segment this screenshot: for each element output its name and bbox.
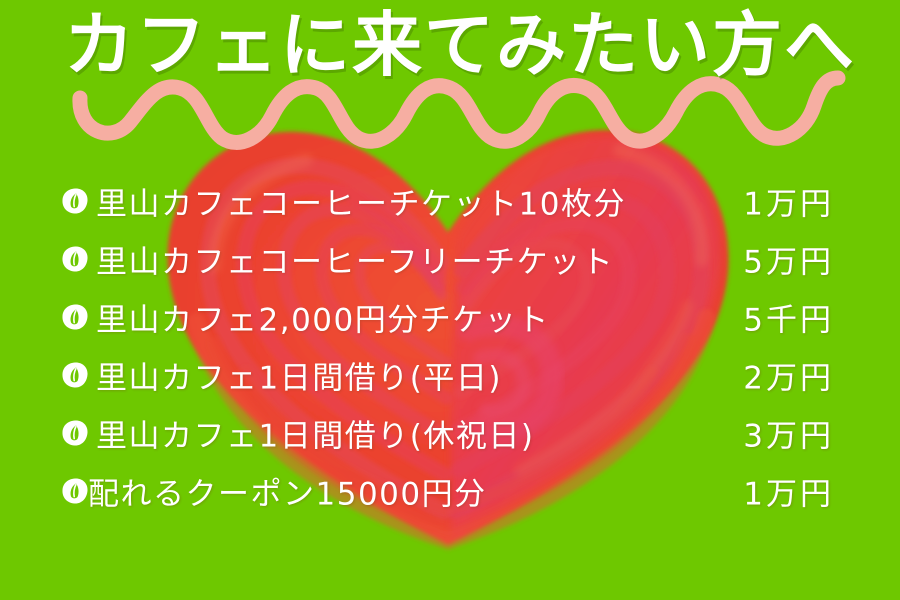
list-item-label: 里山カフェコーヒーチケット10枚分 bbox=[96, 179, 626, 224]
price-list: 里山カフェコーヒーチケット10枚分 1万円 里山カフェコーヒーフリーチケット 5… bbox=[0, 172, 900, 520]
coffee-bean-circle-icon bbox=[60, 302, 90, 332]
list-item-price: 2万円 bbox=[743, 353, 834, 398]
list-item-label: 配れるクーポン15000円分 bbox=[88, 469, 487, 514]
list-item: 配れるクーポン15000円分 1万円 bbox=[0, 462, 900, 520]
list-item-price: 5千円 bbox=[743, 295, 834, 340]
list-item-label: 里山カフェ1日間借り(平日) bbox=[96, 353, 502, 398]
list-item-price: 1万円 bbox=[743, 179, 834, 224]
list-item-label: 里山カフェコーヒーフリーチケット bbox=[96, 237, 614, 282]
list-item: 里山カフェコーヒーフリーチケット 5万円 bbox=[0, 230, 900, 288]
list-item-price: 3万円 bbox=[743, 411, 834, 456]
page-title: カフェに来てみたい方へ bbox=[64, 10, 856, 80]
coffee-bean-circle-icon bbox=[60, 476, 90, 506]
list-item-label: 里山カフェ1日間借り(休祝日) bbox=[96, 411, 534, 456]
list-item: 里山カフェ1日間借り(休祝日) 3万円 bbox=[0, 404, 900, 462]
coffee-bean-circle-icon bbox=[60, 360, 90, 390]
coffee-bean-circle-icon bbox=[60, 244, 90, 274]
list-item-label: 里山カフェ2,000円分チケット bbox=[96, 295, 550, 340]
list-item-price: 1万円 bbox=[743, 469, 834, 514]
coffee-bean-circle-icon bbox=[60, 418, 90, 448]
list-item-price: 5万円 bbox=[743, 237, 834, 282]
poster-canvas: カフェに来てみたい方へ 里山カフェコーヒーチケット10枚分 1万円 bbox=[0, 0, 900, 600]
list-item: 里山カフェコーヒーチケット10枚分 1万円 bbox=[0, 172, 900, 230]
list-item: 里山カフェ1日間借り(平日) 2万円 bbox=[0, 346, 900, 404]
list-item: 里山カフェ2,000円分チケット 5千円 bbox=[0, 288, 900, 346]
coffee-bean-circle-icon bbox=[60, 186, 90, 216]
